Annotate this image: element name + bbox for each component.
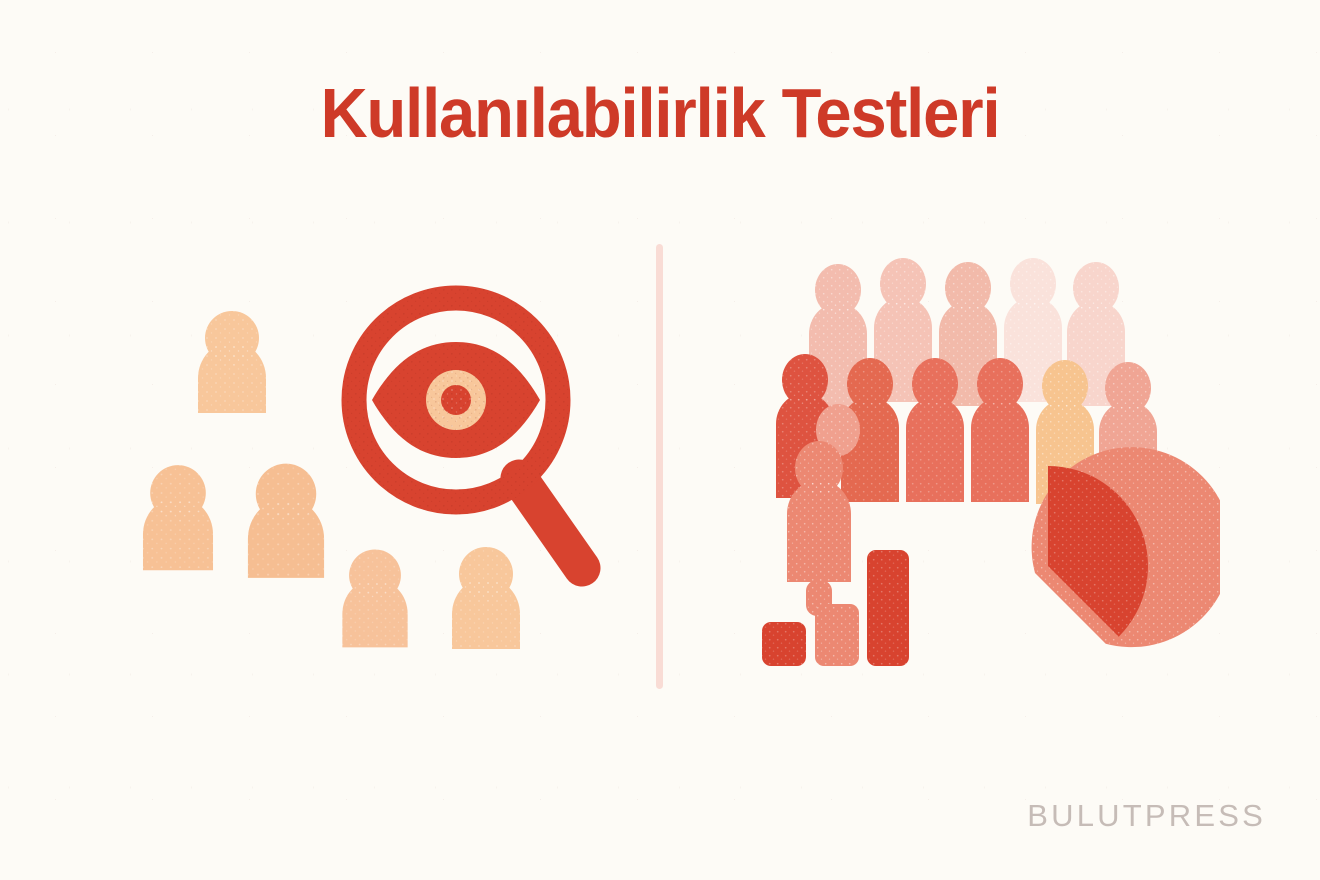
usability-observation-illustration (90, 280, 630, 700)
person-icon (143, 465, 213, 570)
vertical-divider (656, 244, 663, 689)
bar-2 (815, 604, 859, 666)
crowd-figure-front (971, 358, 1029, 502)
bar-3 (867, 550, 909, 666)
page-title: Kullanılabilirlik Testleri (46, 78, 1274, 148)
person-icon (248, 464, 324, 578)
pie-chart (1032, 447, 1220, 647)
watermark-logo: BULUTPRESS (1027, 798, 1266, 834)
person-icon (452, 547, 520, 649)
audience-analytics-illustration (720, 230, 1220, 710)
person-icon (198, 311, 266, 413)
bar-1 (762, 622, 806, 666)
crowd-figure-foreground (787, 441, 851, 616)
magnifier-eye-icon (354, 298, 558, 502)
person-icon (342, 549, 407, 647)
magnifier-handle (519, 478, 582, 568)
crowd-figure-front (906, 358, 964, 502)
poster-canvas: Kullanılabilirlik Testleri (0, 0, 1320, 880)
